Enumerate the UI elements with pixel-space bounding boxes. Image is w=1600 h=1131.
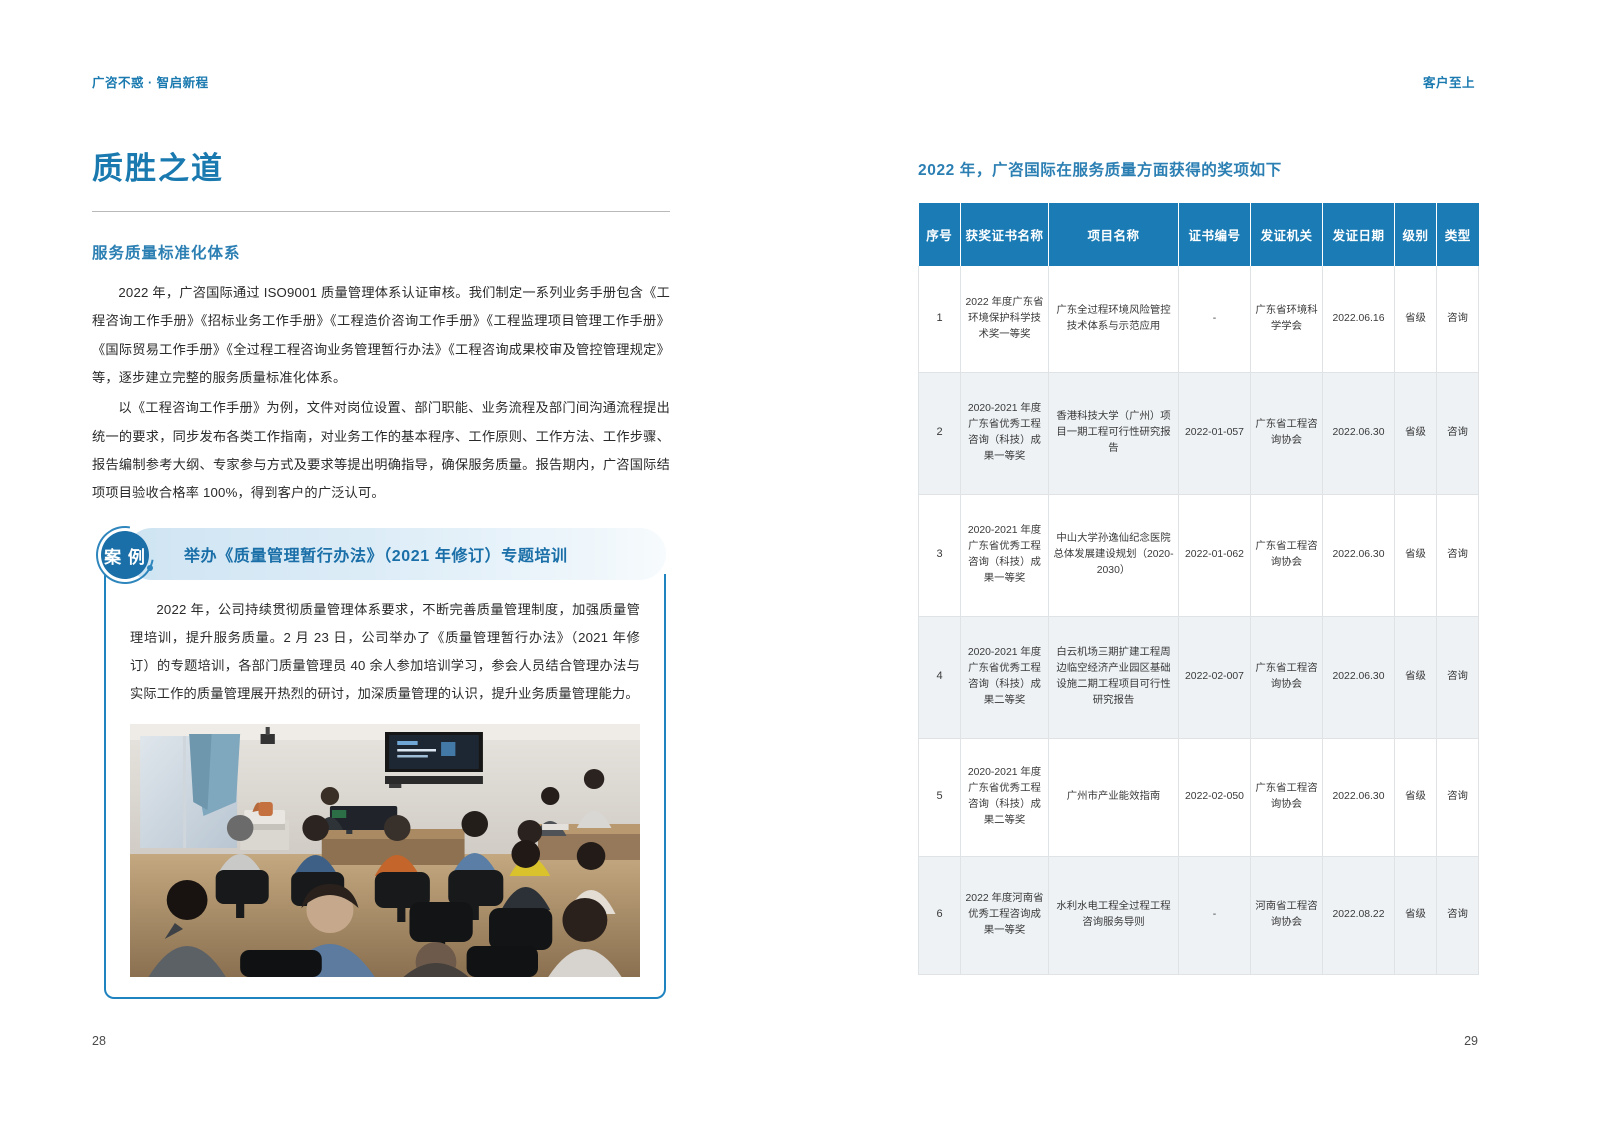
badge-dot-icon	[147, 565, 153, 571]
cell-cert-no: 2022-02-007	[1179, 616, 1251, 738]
cell-issue-date: 2022.06.30	[1323, 616, 1395, 738]
document-spread: 广咨不惑 · 智启新程 客户至上 质胜之道 服务质量标准化体系 2022 年，广…	[0, 0, 1600, 1131]
cell-issuer: 广东省工程咨询协会	[1251, 372, 1323, 494]
cell-cert-no: -	[1179, 856, 1251, 974]
cell-cert-no: 2022-01-062	[1179, 494, 1251, 616]
cell-level: 省级	[1395, 616, 1437, 738]
cell-issuer: 广东省工程咨询协会	[1251, 494, 1323, 616]
column-header-type: 类型	[1437, 203, 1479, 266]
column-header-certificate: 获奖证书名称	[961, 203, 1049, 266]
cell-issue-date: 2022.06.30	[1323, 494, 1395, 616]
cell-type: 咨询	[1437, 266, 1479, 372]
cell-project: 广东全过程环境风险管控技术体系与示范应用	[1049, 266, 1179, 372]
cell-level: 省级	[1395, 266, 1437, 372]
cell-project: 水利水电工程全过程工程咨询服务导则	[1049, 856, 1179, 974]
column-header-cert-no: 证书编号	[1179, 203, 1251, 266]
cell-issue-date: 2022.06.30	[1323, 372, 1395, 494]
title-divider	[92, 211, 670, 212]
table-row: 1 2022 年度广东省环境保护科学技术奖一等奖 广东全过程环境风险管控技术体系…	[919, 266, 1479, 372]
cell-issuer: 广东省工程咨询协会	[1251, 738, 1323, 856]
column-header-project: 项目名称	[1049, 203, 1179, 266]
cell-no: 6	[919, 856, 961, 974]
body-paragraph-1: 2022 年，广咨国际通过 ISO9001 质量管理体系认证审核。我们制定一系列…	[92, 279, 670, 393]
cell-project: 白云机场三期扩建工程周边临空经济产业园区基础设施二期工程项目可行性研究报告	[1049, 616, 1179, 738]
cell-no: 1	[919, 266, 961, 372]
case-body: 2022 年，公司持续贯彻质量管理体系要求，不断完善质量管理制度，加强质量管理培…	[104, 574, 666, 999]
case-banner: 案 例 举办《质量管理暂行办法》（2021 年修订）专题培训	[126, 528, 666, 580]
case-study-callout: 案 例 举办《质量管理暂行办法》（2021 年修订）专题培训 2022 年，公司…	[96, 528, 666, 999]
folio-left: 28	[92, 1034, 106, 1048]
cell-project: 香港科技大学（广州）项目一期工程可行性研究报告	[1049, 372, 1179, 494]
cell-level: 省级	[1395, 738, 1437, 856]
table-row: 4 2020-2021 年度广东省优秀工程咨询（科技）成果二等奖 白云机场三期扩…	[919, 616, 1479, 738]
case-badge-label: 案 例	[101, 531, 149, 579]
cell-project: 广州市产业能效指南	[1049, 738, 1179, 856]
case-paragraph: 2022 年，公司持续贯彻质量管理体系要求，不断完善质量管理制度，加强质量管理培…	[130, 596, 640, 708]
table-row: 6 2022 年度河南省优秀工程咨询成果一等奖 水利水电工程全过程工程咨询服务导…	[919, 856, 1479, 974]
cell-no: 2	[919, 372, 961, 494]
cell-certificate: 2020-2021 年度广东省优秀工程咨询（科技）成果二等奖	[961, 738, 1049, 856]
awards-table: 序号 获奖证书名称 项目名称 证书编号 发证机关 发证日期 级别 类型 1 20…	[918, 203, 1479, 975]
cell-level: 省级	[1395, 372, 1437, 494]
cell-certificate: 2022 年度广东省环境保护科学技术奖一等奖	[961, 266, 1049, 372]
cell-type: 咨询	[1437, 494, 1479, 616]
cell-issuer: 广东省工程咨询协会	[1251, 616, 1323, 738]
cell-cert-no: -	[1179, 266, 1251, 372]
cell-issue-date: 2022.06.16	[1323, 266, 1395, 372]
table-row: 3 2020-2021 年度广东省优秀工程咨询（科技）成果一等奖 中山大学孙逸仙…	[919, 494, 1479, 616]
cell-issuer: 河南省工程咨询协会	[1251, 856, 1323, 974]
case-banner-title: 举办《质量管理暂行办法》（2021 年修订）专题培训	[184, 542, 568, 566]
body-paragraph-2: 以《工程咨询工作手册》为例，文件对岗位设置、部门职能、业务流程及部门间沟通流程提…	[92, 394, 670, 508]
folio-right: 29	[1464, 1034, 1478, 1048]
column-header-no: 序号	[919, 203, 961, 266]
cell-type: 咨询	[1437, 738, 1479, 856]
column-header-issuer: 发证机关	[1251, 203, 1323, 266]
cell-issue-date: 2022.06.30	[1323, 738, 1395, 856]
table-header-row: 序号 获奖证书名称 项目名称 证书编号 发证机关 发证日期 级别 类型	[919, 203, 1479, 266]
page-title: 质胜之道	[92, 150, 670, 189]
cell-type: 咨询	[1437, 372, 1479, 494]
cell-type: 咨询	[1437, 616, 1479, 738]
case-badge: 案 例	[96, 526, 154, 584]
cell-no: 4	[919, 616, 961, 738]
cell-issue-date: 2022.08.22	[1323, 856, 1395, 974]
table-row: 5 2020-2021 年度广东省优秀工程咨询（科技）成果二等奖 广州市产业能效…	[919, 738, 1479, 856]
left-page-content: 质胜之道 服务质量标准化体系 2022 年，广咨国际通过 ISO9001 质量管…	[92, 150, 670, 508]
cell-no: 5	[919, 738, 961, 856]
cell-cert-no: 2022-01-057	[1179, 372, 1251, 494]
column-header-issue-date: 发证日期	[1323, 203, 1395, 266]
training-photo	[130, 724, 640, 977]
cell-level: 省级	[1395, 856, 1437, 974]
cell-level: 省级	[1395, 494, 1437, 616]
cell-certificate: 2020-2021 年度广东省优秀工程咨询（科技）成果二等奖	[961, 616, 1049, 738]
table-row: 2 2020-2021 年度广东省优秀工程咨询（科技）成果一等奖 香港科技大学（…	[919, 372, 1479, 494]
running-head-right: 客户至上	[1423, 72, 1475, 91]
cell-certificate: 2020-2021 年度广东省优秀工程咨询（科技）成果一等奖	[961, 372, 1049, 494]
cell-type: 咨询	[1437, 856, 1479, 974]
cell-issuer: 广东省环境科学学会	[1251, 266, 1323, 372]
right-page-content: 2022 年，广咨国际在服务质量方面获得的奖项如下 序号 获奖证书名称 项目名称…	[918, 158, 1478, 975]
cell-cert-no: 2022-02-050	[1179, 738, 1251, 856]
cell-certificate: 2022 年度河南省优秀工程咨询成果一等奖	[961, 856, 1049, 974]
running-head-left: 广咨不惑 · 智启新程	[92, 72, 209, 91]
cell-certificate: 2020-2021 年度广东省优秀工程咨询（科技）成果一等奖	[961, 494, 1049, 616]
table-caption: 2022 年，广咨国际在服务质量方面获得的奖项如下	[918, 158, 1478, 180]
cell-project: 中山大学孙逸仙纪念医院总体发展建设规划（2020-2030）	[1049, 494, 1179, 616]
cell-no: 3	[919, 494, 961, 616]
section-heading: 服务质量标准化体系	[92, 241, 670, 263]
column-header-level: 级别	[1395, 203, 1437, 266]
